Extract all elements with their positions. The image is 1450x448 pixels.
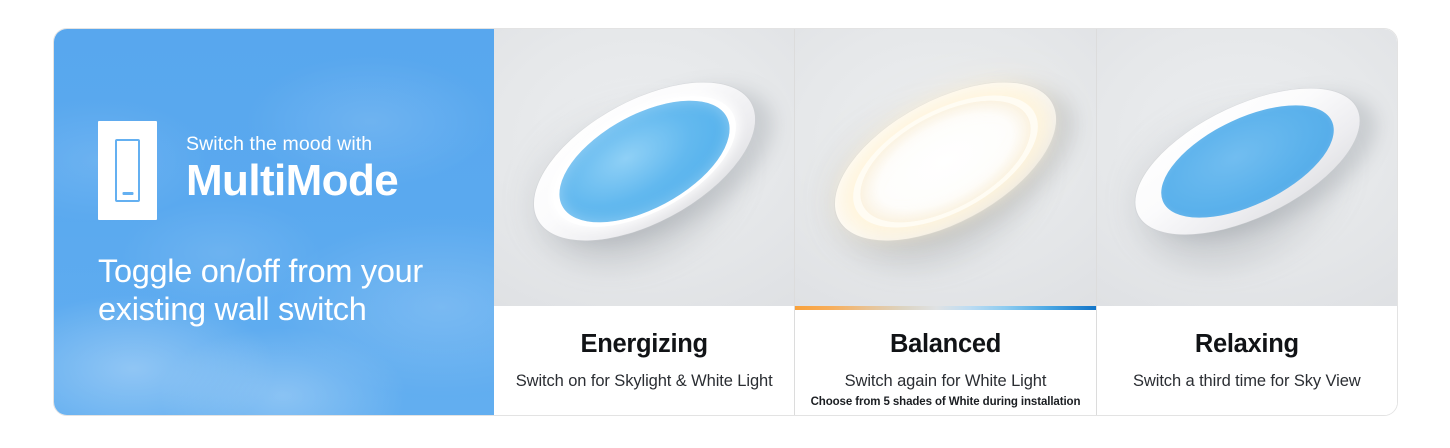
promo-heading-row: Switch the mood with MultiMode	[98, 121, 476, 220]
wall-switch-icon	[98, 121, 157, 220]
mode-columns: Energizing Switch on for Skylight & Whit…	[494, 29, 1397, 415]
promo-title: MultiMode	[186, 159, 398, 204]
promo-eyebrow: Switch the mood with	[186, 135, 398, 155]
promo-content: Switch the mood with MultiMode Toggle on…	[98, 121, 476, 329]
promo-headings: Switch the mood with MultiMode	[186, 135, 398, 206]
product-photo-energizing	[494, 29, 794, 306]
promo-tagline: Toggle on/off from your existing wall sw…	[98, 252, 463, 329]
promo-panel: Switch the mood with MultiMode Toggle on…	[54, 29, 494, 415]
mode-caption-relaxing: Relaxing Switch a third time for Sky Vie…	[1097, 310, 1397, 415]
mode-description: Switch a third time for Sky View	[1111, 371, 1383, 392]
wall-switch-rocker-icon	[115, 139, 140, 202]
mode-description: Switch again for White Light	[809, 371, 1081, 392]
mode-title: Relaxing	[1111, 332, 1383, 358]
mode-title: Energizing	[508, 332, 780, 358]
mode-column-energizing: Energizing Switch on for Skylight & Whit…	[494, 29, 794, 415]
mode-column-balanced: Balanced Switch again for White Light Ch…	[794, 29, 1095, 415]
mode-caption-energizing: Energizing Switch on for Skylight & Whit…	[494, 310, 794, 415]
mode-column-relaxing: Relaxing Switch a third time for Sky Vie…	[1096, 29, 1397, 415]
product-photo-relaxing	[1097, 29, 1397, 306]
mode-note: Choose from 5 shades of White during ins…	[809, 395, 1081, 409]
mode-description: Switch on for Skylight & White Light	[508, 371, 780, 392]
mode-title: Balanced	[809, 332, 1081, 358]
mode-caption-balanced: Balanced Switch again for White Light Ch…	[795, 310, 1095, 415]
product-photo-balanced	[795, 29, 1095, 306]
multimode-banner-card: Switch the mood with MultiMode Toggle on…	[53, 28, 1398, 416]
